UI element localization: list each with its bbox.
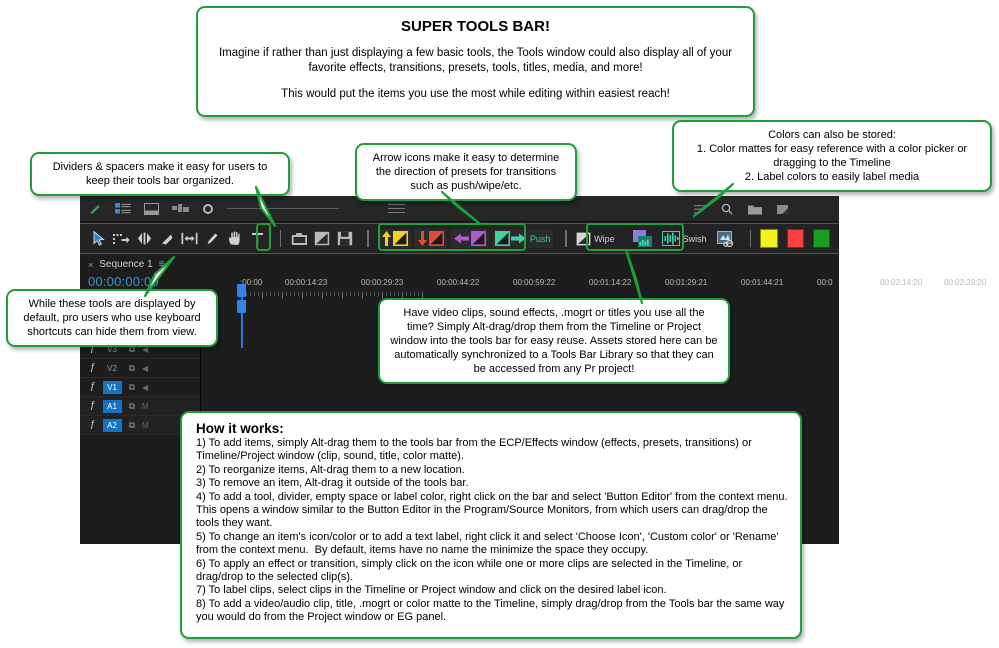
callout-tools: While these tools are displayed by defau… [6,289,218,347]
icon-view-icon[interactable] [144,203,159,215]
panel-menu-icon[interactable] [388,204,405,213]
swish-label: Swish [682,234,707,244]
ruler-tick [362,292,363,299]
lock-icon[interactable]: ƒ [90,363,96,373]
how-it-works-heading: How it works: [196,421,788,436]
ruler-tick [282,292,283,299]
ruler-tick [322,292,323,299]
how-it-works-step: 8) To add a video/audio clip, title, .mo… [196,598,788,625]
how-it-works-steps: 1) To add items, simply Alt-drag them to… [196,437,788,625]
ruler-tick [358,292,359,296]
toolbar-divider-3[interactable] [565,230,567,247]
push-preset-label: Push [528,234,551,244]
freeform-view-icon[interactable] [172,203,189,215]
ruler-tick [290,292,291,296]
callout-header-title: SUPER TOOLS BAR! [212,18,739,35]
ruler-tick [266,292,267,296]
callout-dividers: Dividers & spacers make it easy for user… [30,152,290,196]
push-right-preset[interactable]: Push [492,229,554,248]
callout-tools-text: While these tools are displayed by defau… [18,297,206,339]
callout-arrows-text: Arrow icons make it easy to determine th… [367,151,565,193]
ruler-label: 00:02:14:20 [880,278,922,287]
track-name-badge[interactable]: V2 [103,362,122,375]
track-name-badge[interactable]: V1 [103,381,122,394]
track-toggle-icon[interactable]: ◀ [142,383,148,392]
save-preset-button[interactable] [336,228,355,250]
how-it-works-step: 7) To label clips, select clips in the T… [196,584,788,597]
sync-lock-icon[interactable]: ⧉ [129,363,135,374]
callout-assets-text: Have video clips, sound effects, .mogrt … [390,306,718,376]
callout-dividers-tail [255,186,277,228]
ruler-label: 00:00:29:23 [361,278,403,287]
ruler-tick [334,292,335,296]
audio-swish-asset[interactable]: Swish [659,229,710,249]
label-color-green[interactable] [813,229,830,248]
push-down-preset[interactable] [414,229,447,248]
lock-icon[interactable]: ƒ [90,401,96,411]
lock-icon[interactable]: ƒ [90,382,96,392]
type-tool[interactable] [248,228,267,250]
track-toggle-icon[interactable]: M [142,402,149,411]
callout-header: SUPER TOOLS BAR! Imagine if rather than … [196,6,755,117]
ruler-tick [330,292,331,296]
track-select-forward-tool[interactable] [113,228,132,250]
toolbar-divider[interactable] [280,230,282,247]
wipe-transition-button[interactable]: Wipe [576,232,615,246]
list-view-icon[interactable] [115,203,131,214]
how-it-works-step: 2) To reorganize items, Alt-drag them to… [196,464,788,477]
playhead-handle-bottom[interactable] [237,300,246,313]
ruler-tick [418,292,419,296]
callout-tools-tail [140,256,176,298]
video-clip-asset[interactable] [630,229,655,249]
track-toggle-icon[interactable]: ◀ [142,364,148,373]
track-header-v1[interactable]: ƒV1⧉◀ [80,378,200,397]
callout-arrows-tail [440,190,482,230]
ruler-label: 00:01:44:21 [741,278,783,287]
lock-icon[interactable]: ƒ [90,420,96,430]
ripple-edit-tool[interactable] [135,228,154,250]
pen-marker-icon[interactable] [88,202,102,216]
timeline-ruler[interactable]: :00:00 00:00:14:23 00:00:29:23 00:00:44:… [240,278,839,291]
ruler-tick [378,292,379,296]
ruler-label: 00:00:44:22 [437,278,479,287]
ruler-label: 00:01:29:21 [665,278,707,287]
close-icon[interactable]: × [88,260,93,270]
ruler-tick [250,292,251,296]
ruler-tick [370,292,371,296]
ruler-label: 00:00:14:23 [285,278,327,287]
zoom-slider-track[interactable] [227,208,339,209]
label-color-yellow[interactable] [760,229,777,248]
label-color-red[interactable] [787,229,804,248]
ruler-tick [398,292,399,296]
track-header-v2[interactable]: ƒV2⧉◀ [80,359,200,378]
how-it-works-step: 1) To add items, simply Alt-drag them to… [196,437,788,464]
push-left-preset[interactable] [450,229,489,248]
mogrt-asset[interactable] [714,229,737,249]
sync-lock-icon[interactable]: ⧉ [129,401,135,412]
pen-tool[interactable] [203,228,222,250]
ruler-tick [406,292,407,296]
track-toggle-icon[interactable]: M [142,421,149,430]
ruler-tick [414,292,415,296]
ruler-tick [394,292,395,296]
ruler-tick [246,292,247,296]
callout-header-para2: This would put the items you use the mos… [212,87,739,102]
callout-how-it-works: How it works: 1) To add items, simply Al… [180,411,802,639]
ruler-tick [354,292,355,296]
track-name-badge[interactable]: A1 [103,400,122,413]
toolbar-divider-2[interactable] [367,230,369,247]
playhead-line[interactable] [241,288,243,348]
zoom-slider[interactable] [202,203,214,215]
callout-assets-tail [614,249,644,305]
dip-to-black-transition-button[interactable] [313,228,332,250]
ruler-tick [294,292,295,296]
ruler-tick [386,292,387,296]
ruler-tick [374,292,375,296]
ruler-tick [318,292,319,296]
ruler-tick [342,292,343,299]
playhead-handle-top[interactable] [237,284,246,297]
ruler-tick [346,292,347,296]
ruler-tick [390,292,391,296]
hand-tool[interactable] [226,228,245,250]
ruler-tick [286,292,287,296]
push-up-preset[interactable] [378,229,411,248]
callout-colors-text: Colors can also be stored: 1. Color matt… [684,128,980,184]
wipe-label: Wipe [594,234,615,244]
new-bin-icon[interactable] [748,204,762,215]
callout-header-para1: Imagine if rather than just displaying a… [212,46,739,76]
ruler-tick [274,292,275,296]
ruler-tick [254,292,255,296]
crop-effect-button[interactable] [290,228,309,250]
ruler-label: 00:0 [817,278,833,287]
sync-lock-icon[interactable]: ⧉ [129,382,135,393]
callout-colors-tail [690,182,735,222]
sync-lock-icon[interactable]: ⧉ [129,420,135,431]
track-name-badge[interactable]: A2 [103,419,122,432]
ruler-tick [338,292,339,296]
ruler-tick [314,292,315,296]
ruler-tick [366,292,367,296]
how-it-works-step: 4) To add a tool, divider, empty space o… [196,491,788,531]
ruler-tick [350,292,351,296]
ruler-tick [278,292,279,296]
ruler-tick [262,292,263,299]
slip-tool[interactable] [180,228,199,250]
ruler-tick [298,292,299,296]
new-item-icon[interactable] [777,204,789,215]
selection-tool[interactable] [90,228,109,250]
ruler-tick [410,292,411,296]
how-it-works-step: 6) To apply an effect or transition, sim… [196,558,788,585]
how-it-works-step: 5) To change an item's icon/color or to … [196,531,788,558]
ruler-tick [306,292,307,296]
ruler-tick [326,292,327,296]
sequence-tab-bar: × Sequence 1 ≡ [80,255,839,274]
how-it-works-step: 3) To remove an item, Alt-drag it outsid… [196,477,788,490]
ruler-tick [302,292,303,299]
ruler-tick [270,292,271,296]
ruler-tick [258,292,259,296]
callout-assets: Have video clips, sound effects, .mogrt … [378,298,730,384]
ruler-label: 00:02:29:20 [944,278,986,287]
ruler-tick [310,292,311,296]
callout-dividers-text: Dividers & spacers make it easy for user… [42,160,278,188]
toolbar-divider-4[interactable] [750,230,752,247]
ruler-label: 00:00:59:22 [513,278,555,287]
rate-stretch-tool[interactable] [158,228,177,250]
